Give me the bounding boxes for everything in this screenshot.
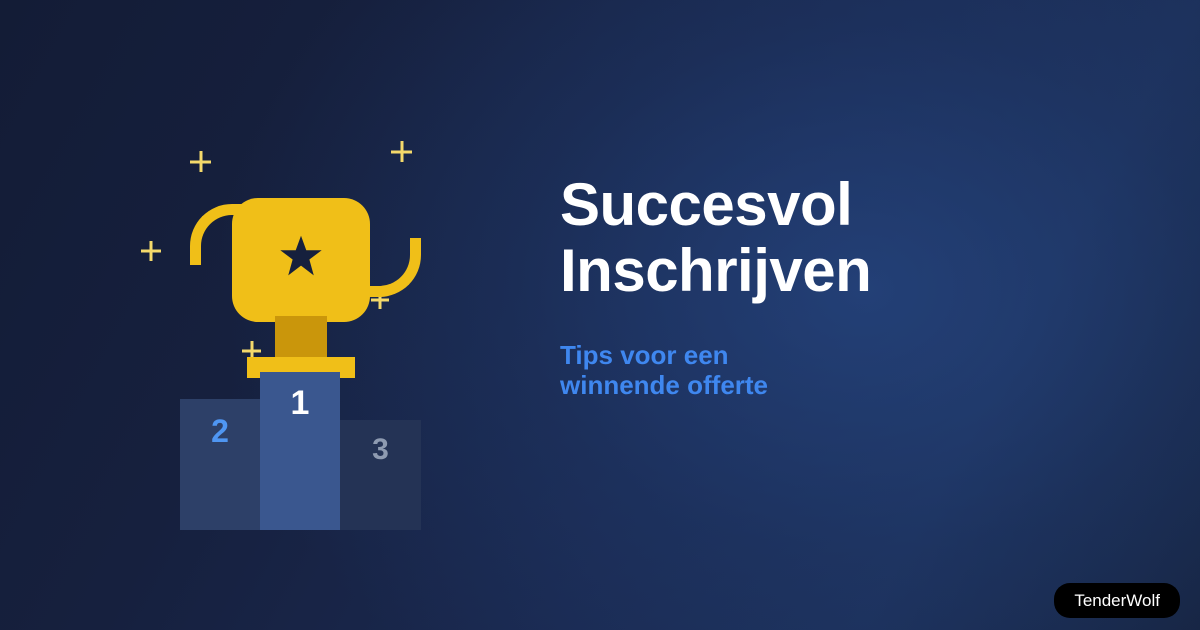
page-subtitle: Tips voor een winnende offerte [560, 340, 1120, 400]
podium-rank-label-3: 3 [340, 435, 421, 465]
podium-block-third: 3 [340, 420, 421, 530]
sparkle-icon-2 [391, 141, 412, 162]
star-icon [279, 234, 323, 278]
podium-block-second: 2 [180, 399, 260, 530]
hero-text-column: Succesvol Inschrijven Tips voor een winn… [560, 172, 1120, 400]
page-title: Succesvol Inschrijven [560, 172, 1120, 304]
podium-block-first: 1 [260, 372, 340, 530]
trophy-podium-illustration: 2 1 3 [0, 0, 600, 630]
sparkle-icon-3 [141, 241, 161, 261]
sparkle-icon-1 [190, 151, 211, 172]
hero-banner: 2 1 3 Succesvol Inschrijven Tips voor ee… [0, 0, 1200, 630]
trophy-stem-icon [275, 316, 327, 362]
brand-badge: TenderWolf [1054, 583, 1180, 618]
podium-rank-label-1: 1 [260, 386, 340, 420]
podium-rank-label-2: 2 [180, 415, 260, 447]
